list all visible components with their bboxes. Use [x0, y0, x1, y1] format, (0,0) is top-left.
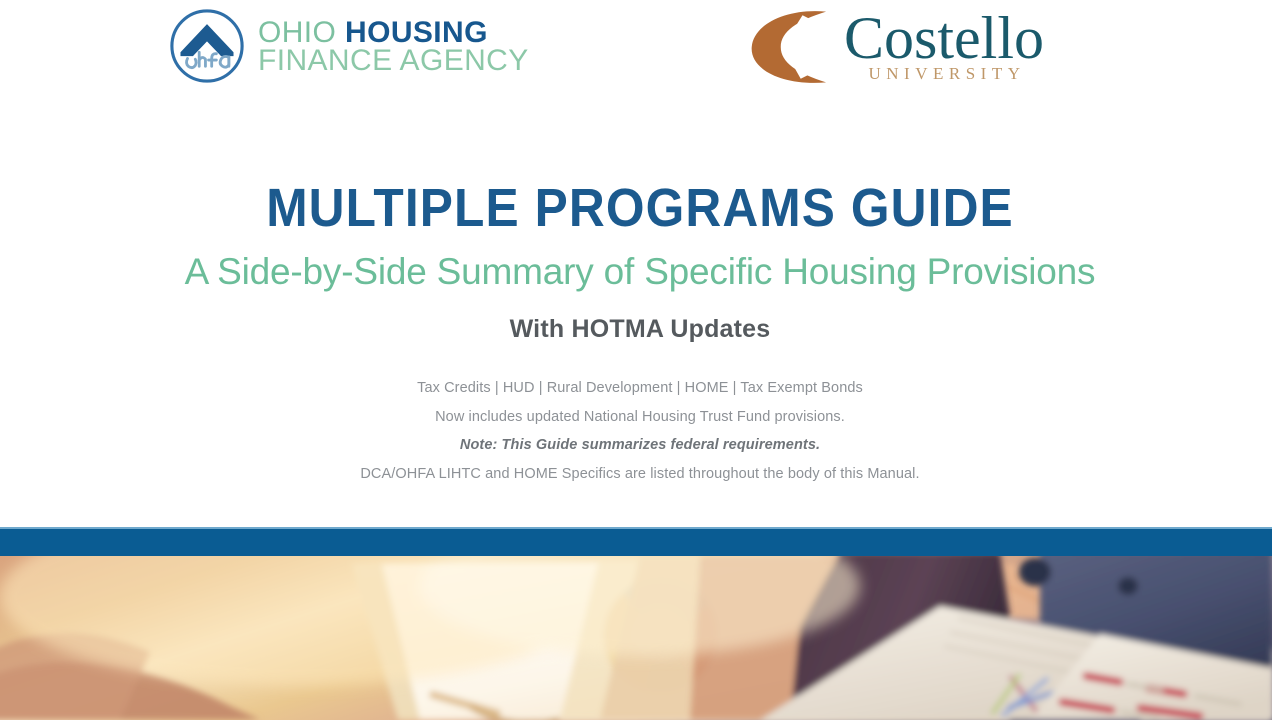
cover-page: OHIO HOUSING FINANCE AGENCY Costello — [0, 0, 1280, 720]
nhtf-line: Now includes updated National Housing Tr… — [0, 403, 1280, 432]
page-subtitle: A Side-by-Side Summary of Specific Housi… — [0, 251, 1280, 294]
note-line: Note: This Guide summarizes federal requ… — [0, 431, 1280, 460]
programs-line: Tax Credits | HUD | Rural Development | … — [0, 374, 1280, 403]
with-updates-label: With HOTMA Updates — [0, 315, 1280, 344]
costello-subname: UNIVERSITY — [844, 64, 1044, 84]
right-page-margin — [1272, 0, 1280, 720]
ohfa-line-one: OHIO HOUSING — [258, 19, 529, 47]
ohfa-logo: OHIO HOUSING FINANCE AGENCY — [168, 6, 529, 86]
specifics-line: DCA/OHFA LIHTC and HOME Specifics are li… — [0, 460, 1280, 489]
costello-sunburst-c-icon — [742, 8, 834, 86]
fineprint-block: Tax Credits | HUD | Rural Development | … — [0, 374, 1280, 488]
cover-photo — [0, 556, 1272, 720]
costello-wordmark: Costello UNIVERSITY — [844, 8, 1044, 84]
ohfa-line-two: FINANCE AGENCY — [258, 47, 529, 75]
title-block: MULTIPLE PROGRAMS GUIDE A Side-by-Side S… — [0, 130, 1280, 488]
costello-name: Costello — [844, 10, 1044, 68]
page-title: MULTIPLE PROGRAMS GUIDE — [51, 180, 1229, 237]
logo-row: OHIO HOUSING FINANCE AGENCY Costello — [0, 0, 1280, 100]
blue-divider-band — [0, 527, 1272, 556]
cover-photo-illustration — [0, 556, 1272, 720]
ohfa-wordmark: OHIO HOUSING FINANCE AGENCY — [258, 17, 529, 75]
costello-logo: Costello UNIVERSITY — [742, 8, 1044, 86]
ohfa-circle-mark-icon — [168, 6, 246, 86]
